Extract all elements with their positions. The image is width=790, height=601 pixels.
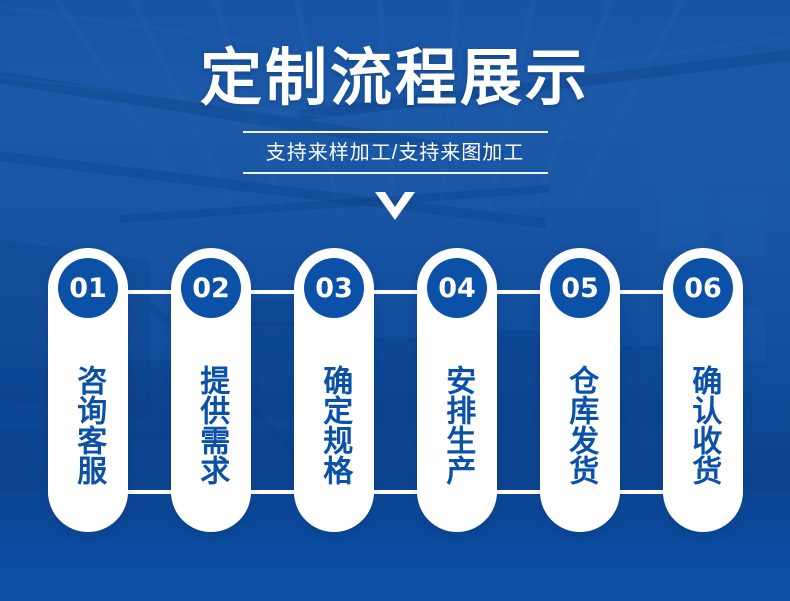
step-label: 安排生产 — [441, 330, 473, 520]
step-number-badge: 05 — [550, 258, 610, 318]
divider-top — [243, 131, 548, 133]
step-label: 确定规格 — [318, 330, 350, 520]
divider-bottom — [243, 172, 548, 174]
page-subtitle: 支持来样加工/支持来图加工 — [0, 140, 790, 166]
page-title: 定制流程展示 — [0, 0, 790, 111]
step-card-05[interactable]: 05 仓库发货 — [540, 248, 620, 532]
step-card-01[interactable]: 01 咨询客服 — [48, 248, 128, 532]
step-number-badge: 02 — [181, 258, 241, 318]
step-card-06[interactable]: 06 确认收货 — [663, 248, 743, 532]
step-card-03[interactable]: 03 确定规格 — [294, 248, 374, 532]
process-steps: 01 咨询客服 02 提供需求 03 确定规格 04 安排生产 05 仓库发货 … — [0, 248, 790, 548]
step-label: 仓库发货 — [564, 330, 596, 520]
step-number-badge: 01 — [58, 258, 118, 318]
promo-banner: 定制流程展示 支持来样加工/支持来图加工 01 咨询客服 02 提供需求 — [0, 0, 790, 601]
step-label: 咨询客服 — [72, 330, 104, 520]
step-label: 确认收货 — [687, 330, 719, 520]
step-number-badge: 03 — [304, 258, 364, 318]
chevron-down-icon — [373, 190, 417, 222]
step-label: 提供需求 — [195, 330, 227, 520]
banner-header: 定制流程展示 支持来样加工/支持来图加工 — [0, 0, 790, 222]
step-number-badge: 06 — [673, 258, 733, 318]
step-card-04[interactable]: 04 安排生产 — [417, 248, 497, 532]
step-card-02[interactable]: 02 提供需求 — [171, 248, 251, 532]
step-number-badge: 04 — [427, 258, 487, 318]
